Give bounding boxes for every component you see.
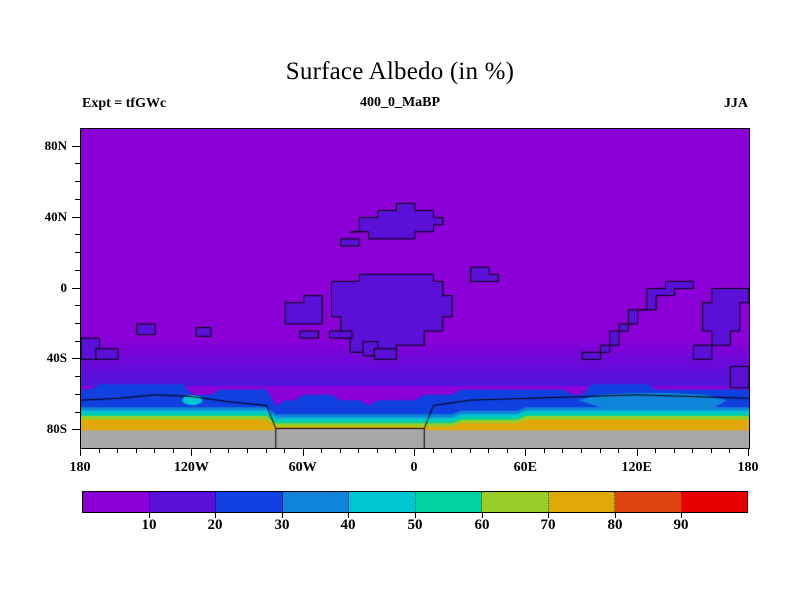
experiment-label: Expt = tfGWc	[82, 96, 166, 112]
y-tick-minor	[75, 199, 80, 200]
colorbar-tick-label: 70	[541, 517, 556, 534]
x-tick-major	[191, 448, 192, 456]
x-axis-label: 120E	[597, 460, 677, 476]
x-axis-label: 120W	[151, 460, 231, 476]
colorbar-band	[83, 492, 150, 512]
y-tick-minor	[75, 270, 80, 271]
x-tick-minor	[729, 448, 730, 453]
y-tick-minor	[75, 181, 80, 182]
colorbar-tick-label: 50	[408, 517, 423, 534]
season-label: JJA	[724, 96, 748, 112]
y-axis-label: 40S	[0, 350, 67, 366]
x-tick-minor	[266, 448, 267, 453]
x-axis-label: 180	[708, 460, 788, 476]
y-tick-major	[72, 288, 80, 289]
colorbar-tick-label: 80	[608, 517, 623, 534]
x-tick-minor	[117, 448, 118, 453]
colorbar-tick-label: 90	[674, 517, 689, 534]
x-tick-major	[748, 448, 749, 456]
y-tick-major	[72, 358, 80, 359]
x-tick-minor	[210, 448, 211, 453]
figure-canvas: Surface Albedo (in %) 400_0_MaBP Expt = …	[0, 0, 800, 600]
y-axis-label: 40N	[0, 209, 67, 225]
x-tick-minor	[433, 448, 434, 453]
x-tick-minor	[247, 448, 248, 453]
colorbar-band	[549, 492, 616, 512]
colorbar-tick-label: 10	[142, 517, 157, 534]
y-tick-minor	[75, 234, 80, 235]
page-title: Surface Albedo (in %)	[0, 58, 800, 86]
x-axis-label: 180	[40, 460, 120, 476]
x-tick-minor	[581, 448, 582, 453]
x-tick-minor	[692, 448, 693, 453]
y-tick-minor	[75, 394, 80, 395]
y-axis-label: 80S	[0, 421, 67, 437]
x-tick-minor	[395, 448, 396, 453]
colorbar-band	[416, 492, 483, 512]
x-tick-minor	[470, 448, 471, 453]
x-tick-minor	[228, 448, 229, 453]
colorbar-tick-label: 20	[208, 517, 223, 534]
x-tick-major	[303, 448, 304, 456]
x-tick-major	[80, 448, 81, 456]
colorbar-tick-label: 40	[341, 517, 356, 534]
x-tick-minor	[377, 448, 378, 453]
y-tick-minor	[75, 305, 80, 306]
map-plot-area	[80, 128, 750, 449]
colorbar-band	[349, 492, 416, 512]
colorbar-band	[482, 492, 549, 512]
x-axis-label: 60E	[485, 460, 565, 476]
colorbar-band	[615, 492, 682, 512]
colorbar-band	[283, 492, 350, 512]
x-tick-minor	[451, 448, 452, 453]
y-axis-label: 0	[0, 280, 67, 296]
y-tick-major	[72, 429, 80, 430]
colorbar-band	[682, 492, 748, 512]
colorbar-band	[216, 492, 283, 512]
x-tick-minor	[600, 448, 601, 453]
y-tick-minor	[75, 376, 80, 377]
colorbar-band	[150, 492, 217, 512]
y-tick-major	[72, 217, 80, 218]
x-tick-major	[525, 448, 526, 456]
x-tick-minor	[488, 448, 489, 453]
x-tick-minor	[358, 448, 359, 453]
albedo-heatmap	[81, 129, 749, 448]
x-axis-label: 0	[374, 460, 454, 476]
y-tick-minor	[75, 323, 80, 324]
x-tick-minor	[507, 448, 508, 453]
x-tick-minor	[674, 448, 675, 453]
y-tick-minor	[75, 252, 80, 253]
x-tick-minor	[655, 448, 656, 453]
y-axis-label: 80N	[0, 138, 67, 154]
colorbar	[82, 491, 748, 513]
x-tick-minor	[544, 448, 545, 453]
x-tick-major	[414, 448, 415, 456]
y-tick-minor	[75, 163, 80, 164]
x-axis-label: 60W	[263, 460, 343, 476]
x-tick-minor	[284, 448, 285, 453]
colorbar-tick-label: 30	[275, 517, 290, 534]
x-tick-minor	[562, 448, 563, 453]
x-tick-minor	[618, 448, 619, 453]
x-tick-minor	[136, 448, 137, 453]
x-tick-minor	[340, 448, 341, 453]
y-tick-minor	[75, 341, 80, 342]
y-tick-minor	[75, 412, 80, 413]
x-tick-minor	[321, 448, 322, 453]
x-tick-major	[637, 448, 638, 456]
colorbar-tick-label: 60	[475, 517, 490, 534]
x-tick-minor	[154, 448, 155, 453]
x-tick-minor	[711, 448, 712, 453]
x-tick-minor	[99, 448, 100, 453]
y-tick-major	[72, 146, 80, 147]
x-tick-minor	[173, 448, 174, 453]
